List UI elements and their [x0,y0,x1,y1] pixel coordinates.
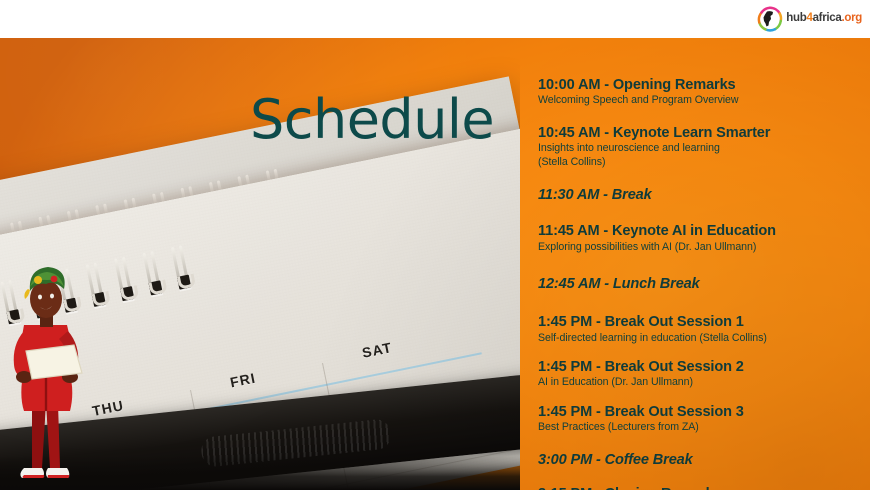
schedule-item: 10:00 AM - Opening Remarks Welcoming Spe… [538,77,856,108]
schedule-item-subtitle: Exploring possibilities with AI (Dr. Jan… [538,241,856,255]
schedule-item-break: 11:30 AM - Break [538,187,856,204]
schedule-item: 11:45 AM - Keynote AI in Education Explo… [538,223,856,254]
schedule-item: 1:45 PM - Break Out Session 3 Best Pract… [538,404,856,435]
logo-word-hub: hub [786,12,806,24]
schedule-item-heading: 12:45 AM - Lunch Break [538,276,856,293]
slide-body: THU FRI SAT 6 7 [0,38,870,490]
schedule-item-subtitle: AI in Education (Dr. Jan Ullmann) [538,376,856,390]
schedule-item-break: 3:00 PM - Coffee Break [538,452,856,469]
africa-globe-icon [757,6,783,32]
schedule-item-heading: 11:45 AM - Keynote AI in Education [538,223,856,240]
schedule-item-heading: 3:00 PM - Coffee Break [538,452,856,469]
schedule-item-heading: 1:45 PM - Break Out Session 1 [538,314,856,331]
schedule-item-subtitle: Welcoming Speech and Program Overview [538,94,856,108]
schedule-item-subtitle: Self-directed learning in education (Ste… [538,332,856,346]
spiral-coil [171,245,193,291]
schedule-item: 3:15 PM - Closing Remarks Summary of Key… [538,486,856,490]
schedule-item-heading: 3:15 PM - Closing Remarks [538,486,856,490]
schedule-item-heading: 10:00 AM - Opening Remarks [538,77,856,94]
schedule-item-heading: 10:45 AM - Keynote Learn Smarter [538,125,856,142]
schedule-item-subtitle-2: (Stella Collins) [538,156,856,170]
schedule-list: 10:00 AM - Opening Remarks Welcoming Spe… [538,57,856,490]
schedule-item-heading: 1:45 PM - Break Out Session 2 [538,359,856,376]
spiral-coil [114,256,136,302]
schedule-item-subtitle: Insights into neuroscience and learning [538,142,856,156]
presentation-slide: hub4africa.org [0,0,870,490]
schedule-item-heading: 1:45 PM - Break Out Session 3 [538,404,856,421]
schedule-item: 1:45 PM - Break Out Session 1 Self-direc… [538,314,856,345]
logo-wordmark: hub4africa.org [786,13,862,25]
slide-header-bar: hub4africa.org [0,0,870,38]
schedule-item-subtitle: Best Practices (Lecturers from ZA) [538,421,856,435]
schedule-item: 10:45 AM - Keynote Learn Smarter Insight… [538,125,856,169]
schedule-item: 1:45 PM - Break Out Session 2 AI in Educ… [538,359,856,390]
spiral-coil [143,251,165,297]
hub4africa-logo[interactable]: hub4africa.org [757,5,862,32]
logo-word-africa: africa [813,12,842,24]
person-illustration [2,253,90,490]
logo-word-org: .org [841,12,862,24]
page-title: Schedule [250,93,494,147]
schedule-item-heading: 11:30 AM - Break [538,187,856,204]
schedule-item-break: 12:45 AM - Lunch Break [538,276,856,293]
